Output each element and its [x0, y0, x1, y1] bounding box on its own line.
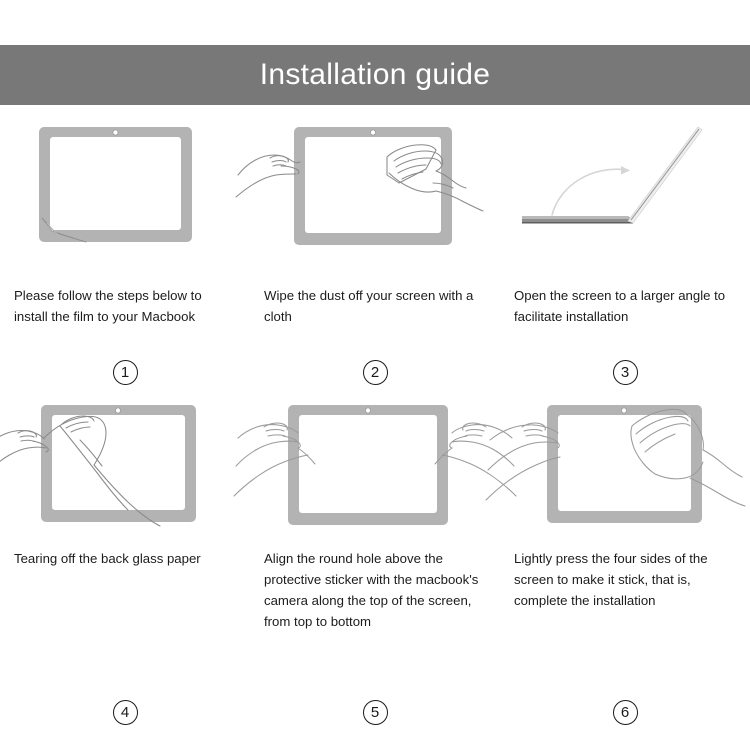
step-number: 4	[113, 700, 138, 725]
laptop-lid-icon	[628, 127, 702, 223]
step-number: 5	[363, 700, 388, 725]
step-4-illustration	[0, 400, 250, 550]
step-2-illustration	[250, 105, 500, 255]
step-1-illustration	[0, 105, 250, 255]
macbook-screen-icon	[288, 405, 448, 525]
step-card-6: Lightly press the four sides of the scre…	[500, 400, 750, 750]
step-number: 2	[363, 360, 388, 385]
step-5-caption: Align the round hole above the protectiv…	[250, 548, 500, 632]
step-number: 3	[613, 360, 638, 385]
macbook-screen-icon	[39, 127, 192, 242]
step-2-caption: Wipe the dust off your screen with a clo…	[250, 285, 500, 327]
step-2-number-badge: 2	[250, 360, 500, 385]
step-1-number-badge: 1	[0, 360, 250, 385]
macbook-screen-icon	[547, 405, 702, 523]
step-4-number-badge: 4	[0, 700, 250, 725]
installation-guide-page: Installation guide	[0, 0, 750, 750]
step-number: 1	[113, 360, 138, 385]
step-card-1: Please follow the steps below to install…	[0, 105, 250, 400]
step-3-caption: Open the screen to a larger angle to fac…	[500, 285, 750, 327]
step-5-number-badge: 5	[250, 700, 500, 725]
laptop-base-icon	[522, 216, 633, 224]
step-6-number-badge: 6	[500, 700, 750, 725]
opening-motion-arc-icon	[552, 166, 630, 215]
step-3-illustration	[500, 105, 750, 255]
step-6-illustration	[500, 400, 750, 550]
step-5-illustration	[250, 400, 500, 550]
steps-grid: Please follow the steps below to install…	[0, 105, 750, 750]
macbook-screen-icon	[294, 127, 452, 245]
page-title: Installation guide	[260, 60, 491, 90]
header-banner: Installation guide	[0, 45, 750, 105]
step-3-number-badge: 3	[500, 360, 750, 385]
step-card-5: Align the round hole above the protectiv…	[250, 400, 500, 750]
step-card-4: Tearing off the back glass paper 4	[0, 400, 250, 750]
step-1-caption: Please follow the steps below to install…	[0, 285, 250, 327]
step-4-caption: Tearing off the back glass paper	[0, 548, 250, 569]
step-card-3: Open the screen to a larger angle to fac…	[500, 105, 750, 400]
step-card-2: Wipe the dust off your screen with a clo…	[250, 105, 500, 400]
step-number: 6	[613, 700, 638, 725]
step-6-caption: Lightly press the four sides of the scre…	[500, 548, 750, 611]
